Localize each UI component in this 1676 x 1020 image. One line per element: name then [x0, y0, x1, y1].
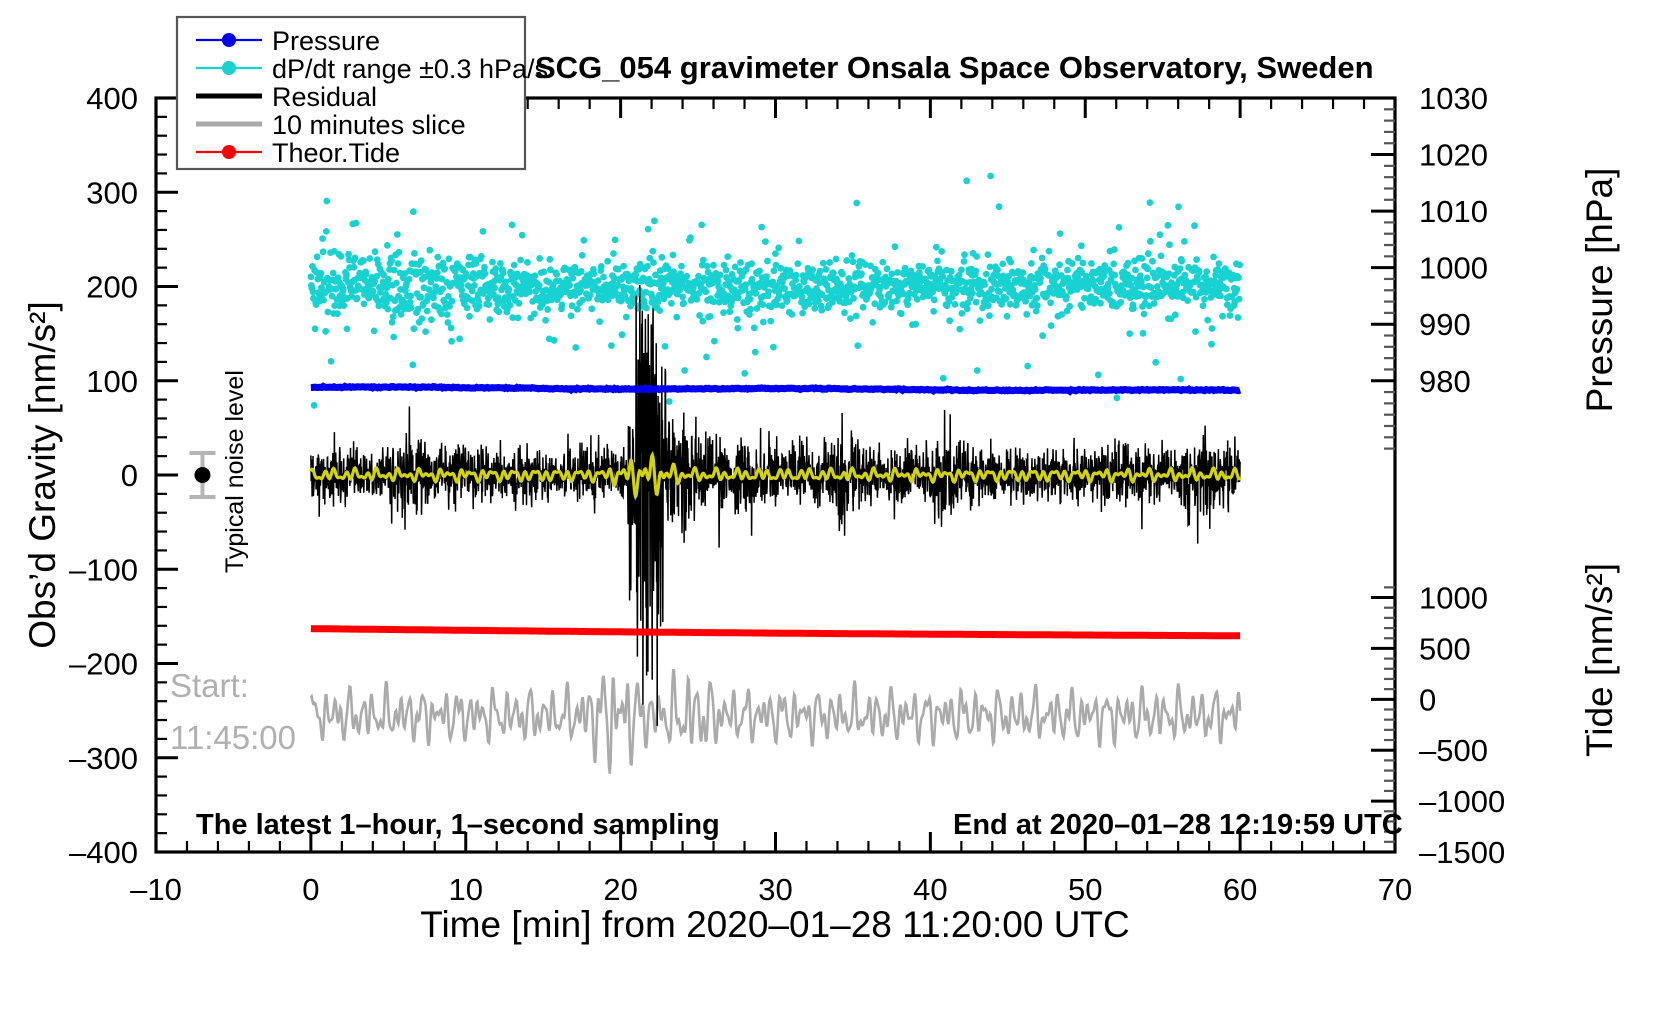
scatter-point: [385, 276, 392, 283]
scatter-point: [578, 268, 585, 275]
scatter-point: [486, 316, 493, 323]
scatter-point: [541, 269, 548, 276]
scatter-point: [417, 294, 424, 301]
scatter-point: [458, 287, 465, 294]
scatter-point: [1177, 376, 1184, 383]
scatter-point: [506, 286, 513, 293]
scatter-point: [987, 173, 994, 180]
scatter-point: [724, 253, 731, 260]
scatter-point: [1235, 314, 1242, 321]
scatter-point: [411, 250, 418, 257]
scatter-point: [833, 256, 840, 263]
scatter-point: [999, 261, 1006, 268]
scatter-point: [938, 248, 945, 255]
scatter-point: [375, 302, 382, 309]
scatter-point: [775, 244, 782, 251]
scatter-point: [799, 310, 806, 317]
scatter-point: [1069, 260, 1076, 267]
scatter-point: [860, 304, 867, 311]
scatter-point: [1149, 258, 1156, 265]
scatter-point: [344, 326, 351, 333]
scatter-point: [1219, 313, 1226, 320]
scatter-point: [1126, 330, 1133, 337]
scatter-point: [559, 302, 566, 309]
scatter-point: [958, 267, 965, 274]
x-tick-label: 70: [1378, 872, 1412, 907]
scatter-point: [1056, 261, 1063, 268]
legend-item-label: 10 minutes slice: [272, 110, 466, 140]
scatter-point: [1157, 231, 1164, 238]
scatter-point: [371, 328, 378, 335]
tide-tick-label: –500: [1419, 733, 1488, 768]
scatter-point: [748, 260, 755, 267]
y-axis-title-right-tide: Tide [nm/s²]: [1579, 563, 1620, 757]
scatter-point: [1088, 260, 1095, 267]
scatter-point: [352, 255, 359, 262]
scatter-point: [979, 304, 986, 311]
scatter-point: [370, 288, 377, 295]
scatter-point: [334, 310, 341, 317]
scatter-point: [466, 313, 473, 320]
page-title: SCG_054 gravimeter Onsala Space Observat…: [535, 50, 1374, 85]
scatter-point: [390, 313, 397, 320]
scatter-point: [1147, 238, 1154, 245]
scatter-point: [516, 300, 523, 307]
scatter-point: [741, 370, 748, 377]
scatter-point: [1033, 295, 1040, 302]
scatter-point: [448, 338, 455, 345]
scatter-point: [919, 263, 926, 270]
scatter-point: [439, 286, 446, 293]
scatter-point: [1125, 260, 1132, 267]
scatter-point: [850, 295, 857, 302]
scatter-point: [850, 258, 857, 265]
scatter-point: [1203, 268, 1210, 275]
scatter-point: [969, 290, 976, 297]
scatter-point: [988, 286, 995, 293]
scatter-point: [1184, 297, 1191, 304]
scatter-point: [735, 294, 742, 301]
scatter-point: [1047, 299, 1054, 306]
scatter-point: [354, 295, 361, 302]
scatter-point: [687, 234, 694, 241]
scatter-point: [704, 263, 711, 270]
scatter-point: [509, 222, 516, 229]
scatter-point: [519, 232, 526, 239]
scatter-point: [977, 317, 984, 324]
scatter-point: [763, 273, 770, 280]
pressure-tick-label: 980: [1419, 364, 1471, 399]
scatter-point: [703, 288, 710, 295]
scatter-point: [1034, 302, 1041, 309]
scatter-point: [680, 300, 687, 307]
scatter-point: [700, 257, 707, 264]
scatter-point: [438, 311, 445, 318]
scatter-point: [858, 270, 865, 277]
scatter-point: [933, 244, 940, 251]
scatter-point: [796, 238, 803, 245]
scatter-point: [1151, 300, 1158, 307]
x-tick-label: 10: [449, 872, 483, 907]
series-pressure: [311, 386, 1240, 391]
scatter-point: [418, 257, 425, 264]
scatter-point: [1024, 363, 1031, 370]
y-tick-label: –400: [69, 835, 138, 870]
scatter-point: [830, 270, 837, 277]
scatter-point: [1234, 286, 1241, 293]
scatter-point: [1111, 246, 1118, 253]
scatter-point: [972, 268, 979, 275]
scatter-point: [444, 311, 451, 318]
scatter-point: [644, 263, 651, 270]
scatter-point: [1116, 224, 1123, 231]
scatter-point: [489, 259, 496, 266]
scatter-point: [588, 305, 595, 312]
scatter-point: [765, 288, 772, 295]
scatter-point: [789, 311, 796, 318]
scatter-point: [572, 344, 579, 351]
scatter-point: [406, 276, 413, 283]
scatter-point: [1048, 322, 1055, 329]
scatter-point: [1208, 341, 1215, 348]
scatter-point: [422, 328, 429, 335]
scatter-point: [1191, 222, 1198, 229]
scatter-point: [623, 314, 630, 321]
scatter-point: [726, 308, 733, 315]
scatter-point: [959, 310, 966, 317]
scatter-point: [536, 282, 543, 289]
scatter-point: [996, 288, 1003, 295]
scatter-point: [1201, 296, 1208, 303]
scatter-point: [668, 300, 675, 307]
scatter-point: [1192, 328, 1199, 335]
scatter-point: [1117, 299, 1124, 306]
scatter-point: [366, 255, 373, 262]
legend-item-label: Pressure: [272, 26, 380, 56]
scatter-point: [612, 237, 619, 244]
scatter-point: [720, 309, 727, 316]
scatter-point: [495, 308, 502, 315]
chart-page: –10010203040506070 4003002001000–100–200…: [0, 0, 1676, 1020]
scatter-point: [760, 319, 767, 326]
scatter-point: [912, 321, 919, 328]
scatter-point: [1139, 255, 1146, 262]
scatter-point: [596, 318, 603, 325]
scatter-point: [1147, 199, 1154, 206]
scatter-point: [986, 312, 993, 319]
scatter-point: [478, 253, 485, 260]
scatter-point: [963, 177, 970, 184]
scatter-point: [532, 272, 539, 279]
scatter-point: [762, 238, 769, 245]
scatter-point: [707, 313, 714, 320]
scatter-point: [500, 270, 507, 277]
scatter-point: [372, 248, 379, 255]
scatter-point: [320, 248, 327, 255]
scatter-point: [482, 270, 489, 277]
scatter-point: [650, 259, 657, 266]
tide-tick-label: –1500: [1419, 835, 1505, 870]
scatter-point: [703, 354, 710, 361]
scatter-point: [710, 262, 717, 269]
scatter-point: [673, 314, 680, 321]
scatter-point: [1042, 266, 1049, 273]
scatter-point: [904, 301, 911, 308]
scatter-point: [772, 250, 779, 257]
scatter-point: [961, 258, 968, 265]
scatter-point: [363, 271, 370, 278]
scatter-point: [318, 270, 325, 277]
x-tick-label: 0: [302, 872, 319, 907]
scatter-point: [683, 273, 690, 280]
scatter-point: [759, 301, 766, 308]
pressure-tick-label: 1020: [1419, 138, 1488, 173]
pressure-tick-label: 990: [1419, 307, 1471, 342]
scatter-point: [1227, 312, 1234, 319]
scatter-point: [875, 270, 882, 277]
scatter-point: [1023, 311, 1030, 318]
scatter-point: [770, 344, 777, 351]
scatter-point: [492, 265, 499, 272]
scatter-point: [1145, 250, 1152, 257]
scatter-point: [553, 271, 560, 278]
scatter-point: [847, 315, 854, 322]
scatter-point: [694, 296, 701, 303]
legend-swatch-marker: [222, 145, 236, 159]
legend[interactable]: PressuredP/dt range ±0.3 hPa/sResidual10…: [177, 17, 548, 169]
scatter-point: [391, 267, 398, 274]
tide-tick-label: 0: [1419, 682, 1436, 717]
scatter-point: [1158, 253, 1165, 260]
scatter-point: [696, 312, 703, 319]
scatter-point: [395, 260, 402, 267]
scatter-point: [794, 260, 801, 267]
scatter-point: [1078, 242, 1085, 249]
scatter-point: [711, 338, 718, 345]
scatter-point: [1081, 295, 1088, 302]
scatter-point: [411, 325, 418, 332]
scatter-point: [577, 287, 584, 294]
scatter-point: [385, 306, 392, 313]
scatter-point: [1080, 260, 1087, 267]
scatter-point: [1236, 296, 1243, 303]
tide-tick-label: –1000: [1419, 784, 1505, 819]
scatter-point: [323, 198, 330, 205]
scatter-point: [536, 255, 543, 262]
scatter-point: [449, 298, 456, 305]
scatter-point: [1193, 256, 1200, 263]
scatter-point: [747, 306, 754, 313]
scatter-point: [1046, 248, 1053, 255]
scatter-point: [598, 263, 605, 270]
scatter-point: [811, 305, 818, 312]
scatter-point: [651, 217, 658, 224]
scatter-point: [441, 265, 448, 272]
scatter-point: [818, 307, 825, 314]
x-tick-label: –10: [130, 872, 182, 907]
scatter-point: [580, 237, 587, 244]
scatter-point: [1181, 238, 1188, 245]
scatter-point: [312, 325, 319, 332]
x-tick-label: 30: [758, 872, 792, 907]
scatter-point: [311, 402, 318, 409]
scatter-point: [481, 264, 488, 271]
scatter-point: [604, 258, 611, 265]
scatter-point: [649, 248, 656, 255]
scatter-point: [670, 252, 677, 259]
scatter-point: [879, 259, 886, 266]
y-tick-label: 100: [86, 364, 138, 399]
y-tick-label: 300: [86, 175, 138, 210]
scatter-point: [985, 302, 992, 309]
scatter-point: [985, 251, 992, 258]
scatter-point: [1030, 247, 1037, 254]
footer-left-note: The latest 1–hour, 1–second sampling: [196, 809, 720, 841]
scatter-point: [699, 318, 706, 325]
legend-item-label: dP/dt range ±0.3 hPa/s: [272, 54, 548, 84]
scatter-point: [1037, 275, 1044, 282]
legend-item-label: Residual: [272, 82, 377, 112]
scatter-point: [1236, 262, 1243, 269]
scatter-point: [524, 259, 531, 266]
legend-swatch-marker: [222, 33, 236, 47]
scatter-point: [981, 281, 988, 288]
scatter-point: [843, 257, 850, 264]
scatter-point: [1039, 332, 1046, 339]
y-tick-label: –300: [69, 741, 138, 776]
scatter-point: [734, 325, 741, 332]
tide-tick-label: 1000: [1419, 581, 1488, 616]
scatter-point: [1039, 255, 1046, 262]
scatter-point: [853, 200, 860, 207]
scatter-point: [952, 301, 959, 308]
scatter-point: [948, 268, 955, 275]
scatter-point: [884, 265, 891, 272]
y-tick-label: 0: [121, 458, 138, 493]
scatter-point: [1028, 260, 1035, 267]
scatter-point: [888, 271, 895, 278]
legend-swatch-marker: [222, 61, 236, 75]
scatter-point: [956, 326, 963, 333]
scatter-point: [619, 331, 626, 338]
scatter-point: [319, 235, 326, 242]
scatter-point: [471, 282, 478, 289]
scatter-point: [569, 275, 576, 282]
x-tick-label: 50: [1068, 872, 1102, 907]
scatter-point: [1075, 255, 1082, 262]
scatter-point: [662, 343, 669, 350]
scatter-point: [1095, 371, 1102, 378]
scatter-point: [679, 293, 686, 300]
scatter-point: [314, 253, 321, 260]
scatter-point: [737, 259, 744, 266]
scatter-point: [974, 367, 981, 374]
scatter-point: [1064, 267, 1071, 274]
scatter-point: [448, 325, 455, 332]
scatter-point: [456, 335, 463, 342]
scatter-point: [823, 266, 830, 273]
scatter-point: [1217, 293, 1224, 300]
scatter-point: [752, 349, 759, 356]
scatter-point: [1130, 305, 1137, 312]
scatter-point: [566, 282, 573, 289]
scatter-point: [1196, 268, 1203, 275]
scatter-point: [409, 361, 416, 368]
scatter-point: [723, 267, 730, 274]
scatter-point: [645, 226, 652, 233]
scatter-point: [793, 272, 800, 279]
scatter-point: [1178, 258, 1185, 265]
scatter-point: [1177, 265, 1184, 272]
scatter-point: [579, 252, 586, 259]
scatter-point: [361, 301, 368, 308]
scatter-point: [394, 231, 401, 238]
scatter-point: [826, 259, 833, 266]
scatter-point: [961, 251, 968, 258]
pressure-tick-label: 1010: [1419, 194, 1488, 229]
scatter-point: [491, 284, 498, 291]
scatter-point: [1165, 222, 1172, 229]
scatter-point: [600, 274, 607, 281]
scatter-point: [734, 316, 741, 323]
scatter-point: [1106, 290, 1113, 297]
scatter-point: [546, 256, 553, 263]
scatter-point: [996, 203, 1003, 210]
scatter-point: [1079, 304, 1086, 311]
scatter-point: [551, 337, 558, 344]
start-label: Start:: [170, 667, 249, 704]
scatter-point: [1066, 303, 1073, 310]
scatter-point: [892, 243, 899, 250]
scatter-point: [591, 270, 598, 277]
y-axis-title-left: Obs’d Gravity [nm/s²]: [22, 301, 63, 648]
start-time: 11:45:00: [170, 719, 296, 756]
scatter-point: [1057, 230, 1064, 237]
scatter-point: [666, 398, 673, 405]
y-tick-label: –100: [69, 552, 138, 587]
scatter-point: [389, 319, 396, 326]
scatter-point: [419, 315, 426, 322]
scatter-point: [390, 334, 397, 341]
scatter-point: [320, 297, 327, 304]
scatter-point: [698, 222, 705, 229]
scatter-point: [655, 298, 662, 305]
scatter-point: [353, 220, 360, 227]
scatter-point: [620, 263, 627, 270]
scatter-point: [542, 317, 549, 324]
scatter-point: [388, 257, 395, 264]
scatter-point: [678, 263, 685, 270]
typical-noise-level-label: Typical noise level: [221, 370, 249, 573]
scatter-point: [1007, 301, 1014, 308]
scatter-point: [424, 308, 431, 315]
scatter-point: [1223, 286, 1230, 293]
scatter-point: [328, 358, 335, 365]
scatter-point: [1110, 261, 1117, 268]
scatter-point: [1166, 241, 1173, 248]
scatter-point: [1114, 394, 1121, 401]
scatter-point: [1172, 311, 1179, 318]
scatter-point: [1132, 267, 1139, 274]
scatter-point: [1216, 260, 1223, 267]
scatter-point: [308, 274, 315, 281]
scatter-point: [340, 286, 347, 293]
scatter-point: [898, 310, 905, 317]
scatter-point: [511, 262, 518, 269]
pressure-tick-label: 1030: [1419, 81, 1488, 116]
scatter-point: [323, 228, 330, 235]
scatter-point: [1004, 313, 1011, 320]
